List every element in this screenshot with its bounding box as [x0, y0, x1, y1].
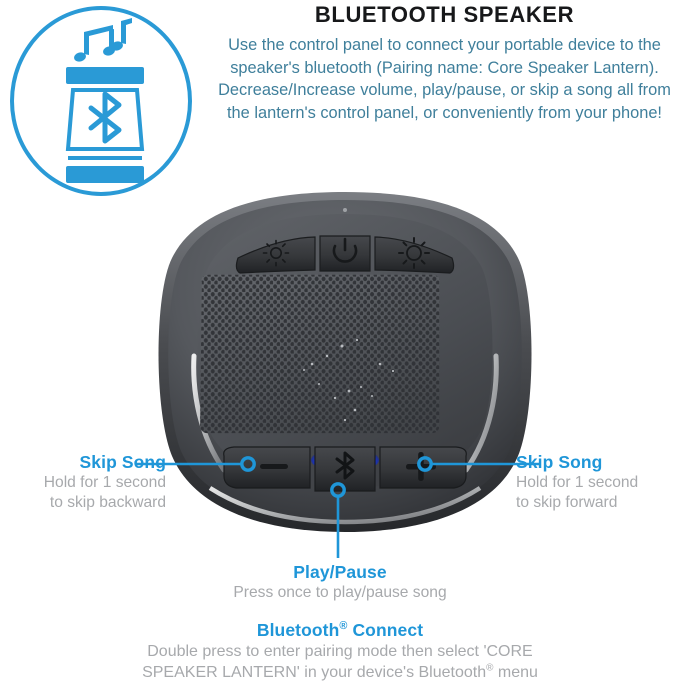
page-title: BLUETOOTH SPEAKER — [210, 0, 679, 30]
bt-title-pre: Bluetooth — [257, 620, 340, 640]
callout-bluetooth-connect: Bluetooth® Connect Double press to enter… — [40, 620, 640, 683]
callout-play-pause: Play/Pause Press once to play/pause song — [170, 562, 510, 603]
button-volume-down[interactable] — [224, 447, 310, 488]
button-power[interactable] — [320, 236, 370, 271]
callout-play-pause-line1: Press once to play/pause song — [170, 583, 510, 603]
callout-bluetooth-connect-line1: Double press to enter pairing mode then … — [40, 641, 640, 662]
speaker-grille — [198, 273, 443, 436]
button-bluetooth[interactable] — [315, 447, 375, 491]
bluetooth-speaker-lantern-icon — [14, 10, 196, 200]
callout-bluetooth-connect-title: Bluetooth® Connect — [40, 620, 640, 641]
callout-play-pause-title: Play/Pause — [170, 562, 510, 583]
callout-skip-forward-line2: to skip forward — [516, 493, 679, 513]
callout-skip-forward: Skip Song Hold for 1 second to skip forw… — [516, 452, 679, 512]
speaker-control-panel — [152, 188, 538, 546]
page-description: Use the control panel to connect your po… — [212, 34, 677, 124]
bt-line2-post: menu — [493, 664, 537, 681]
bt-line2-pre: SPEAKER LANTERN' in your device's Blueto… — [142, 664, 486, 681]
bottom-button-row — [224, 447, 467, 491]
infographic-page: BLUETOOTH SPEAKER Use the control panel … — [0, 0, 679, 687]
callout-skip-forward-line1: Hold for 1 second — [516, 473, 679, 493]
callout-skip-backward: Skip Song Hold for 1 second to skip back… — [0, 452, 166, 512]
callout-skip-backward-line1: Hold for 1 second — [0, 473, 166, 493]
callout-skip-forward-title: Skip Song — [516, 452, 679, 473]
bt-title-post: Connect — [347, 620, 423, 640]
status-pinhole — [343, 208, 347, 212]
callout-skip-backward-title: Skip Song — [0, 452, 166, 473]
button-volume-up[interactable] — [380, 447, 466, 488]
callout-bluetooth-connect-line2: SPEAKER LANTERN' in your device's Blueto… — [40, 662, 640, 683]
callout-skip-backward-line2: to skip backward — [0, 493, 166, 513]
minus-icon — [260, 464, 288, 469]
bluetooth-icon — [91, 94, 119, 141]
music-notes-icon — [73, 18, 132, 63]
bluetooth-speaker-lantern-badge — [10, 6, 192, 196]
